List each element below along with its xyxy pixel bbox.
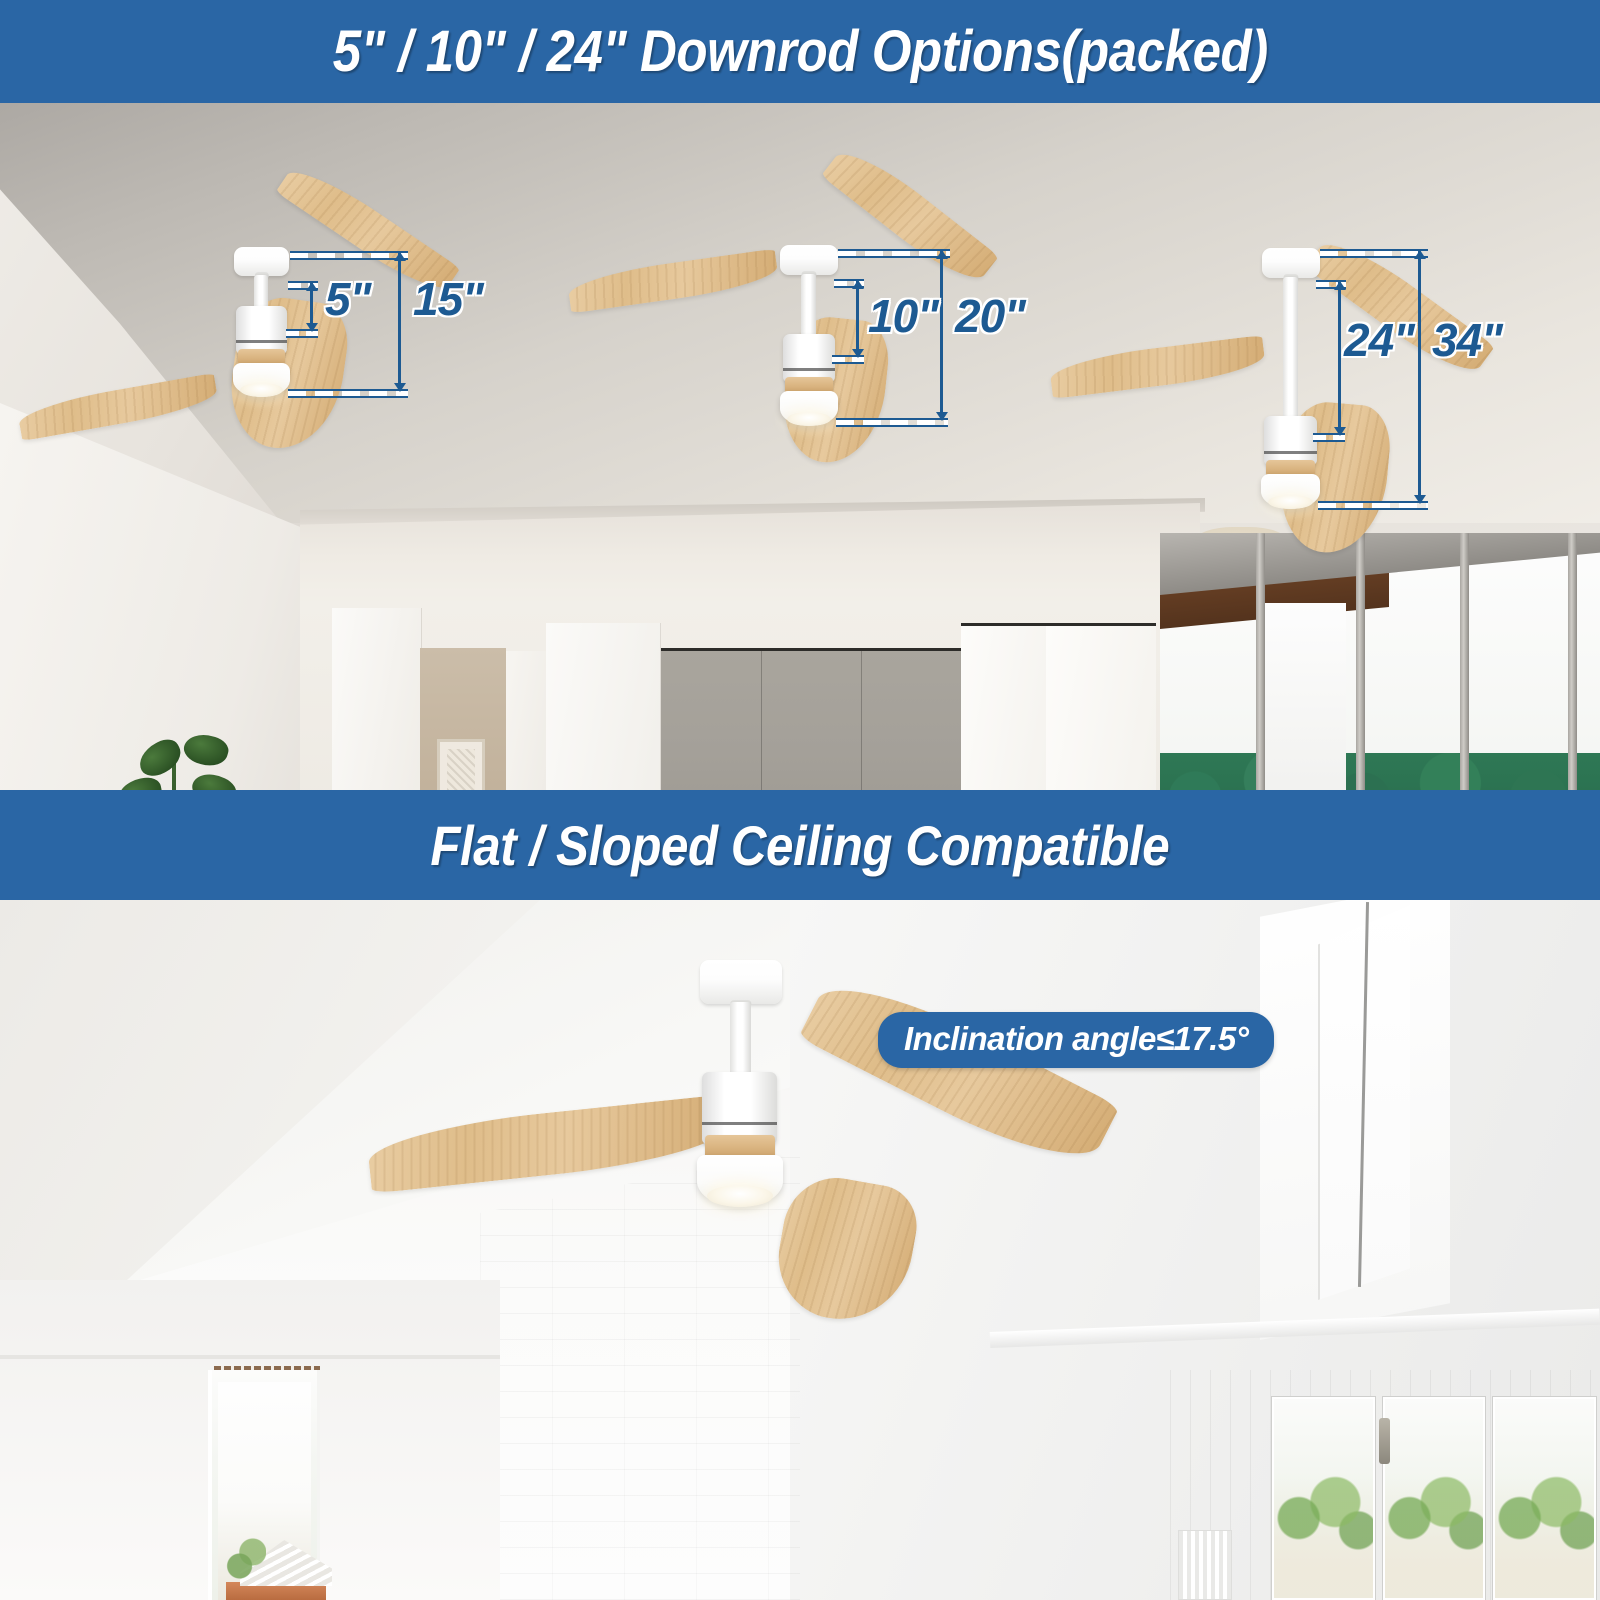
fan-blade	[798, 962, 1119, 1181]
fan-canopy	[700, 960, 782, 1004]
fan-blade	[769, 1170, 923, 1331]
fan-motor-housing	[702, 1072, 777, 1144]
inclination-angle-badge: Inclination angle≤17.5°	[878, 1012, 1274, 1068]
middle-banner-title: Flat / Sloped Ceiling Compatible	[431, 813, 1170, 878]
motor-ring	[702, 1122, 777, 1125]
fan-light-lens	[707, 1185, 773, 1207]
fan-blade	[366, 1094, 731, 1193]
product-feature-page: 5" / 10" / 24" Downrod Options(packed)	[0, 0, 1600, 1600]
top-banner: 5" / 10" / 24" Downrod Options(packed)	[0, 0, 1600, 103]
top-banner-title: 5" / 10" / 24" Downrod Options(packed)	[332, 18, 1267, 85]
middle-banner: Flat / Sloped Ceiling Compatible	[0, 790, 1600, 900]
fan-downrod	[730, 1002, 751, 1080]
